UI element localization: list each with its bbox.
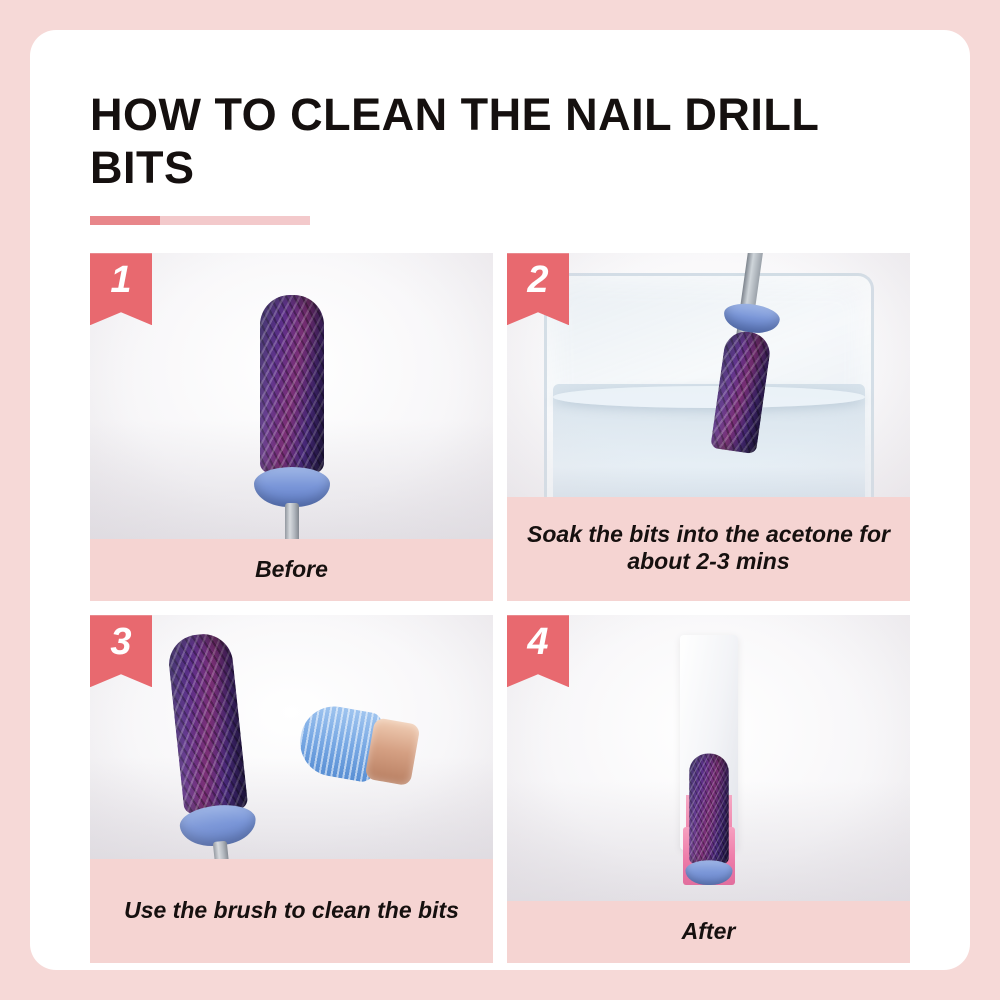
bit-collar bbox=[254, 467, 330, 507]
bit-head bbox=[166, 631, 248, 815]
drill-bit-icon bbox=[254, 295, 330, 539]
bit-head bbox=[260, 295, 324, 473]
brush-ferrule bbox=[364, 717, 420, 786]
step-caption-4: After bbox=[507, 901, 910, 963]
poster-card: HOW TO CLEAN THE NAIL DRILL BITS 1 bbox=[30, 30, 970, 970]
acetone-glass-icon bbox=[544, 273, 874, 497]
divider-segment-right bbox=[160, 216, 310, 225]
acetone-surface bbox=[553, 386, 865, 408]
page-title: HOW TO CLEAN THE NAIL DRILL BITS bbox=[90, 88, 910, 194]
bit-shank bbox=[285, 503, 299, 539]
step-card-1: 1 Before bbox=[90, 253, 493, 601]
step-card-2: 2 Soak the bits into the acetone for abo… bbox=[507, 253, 910, 601]
step-1-image: 1 bbox=[90, 253, 493, 539]
drill-bit-icon bbox=[685, 754, 732, 885]
step-3-image: 3 bbox=[90, 615, 493, 859]
step-caption-2: Soak the bits into the acetone for about… bbox=[507, 497, 910, 601]
bit-head bbox=[689, 754, 729, 864]
step-card-3: 3 Use the brush to clean the bits bbox=[90, 615, 493, 963]
poster-page: HOW TO CLEAN THE NAIL DRILL BITS 1 bbox=[0, 0, 1000, 1000]
bit-head bbox=[710, 329, 772, 454]
bit-collar bbox=[685, 860, 732, 885]
step-4-image: 4 bbox=[507, 615, 910, 901]
title-divider bbox=[90, 216, 310, 225]
steps-grid: 1 Before 2 bbox=[90, 253, 910, 963]
divider-segment-left bbox=[90, 216, 160, 225]
step-2-image: 2 bbox=[507, 253, 910, 497]
step-card-4: 4 After bbox=[507, 615, 910, 963]
step-caption-1: Before bbox=[90, 539, 493, 601]
step-caption-3: Use the brush to clean the bits bbox=[90, 859, 493, 963]
